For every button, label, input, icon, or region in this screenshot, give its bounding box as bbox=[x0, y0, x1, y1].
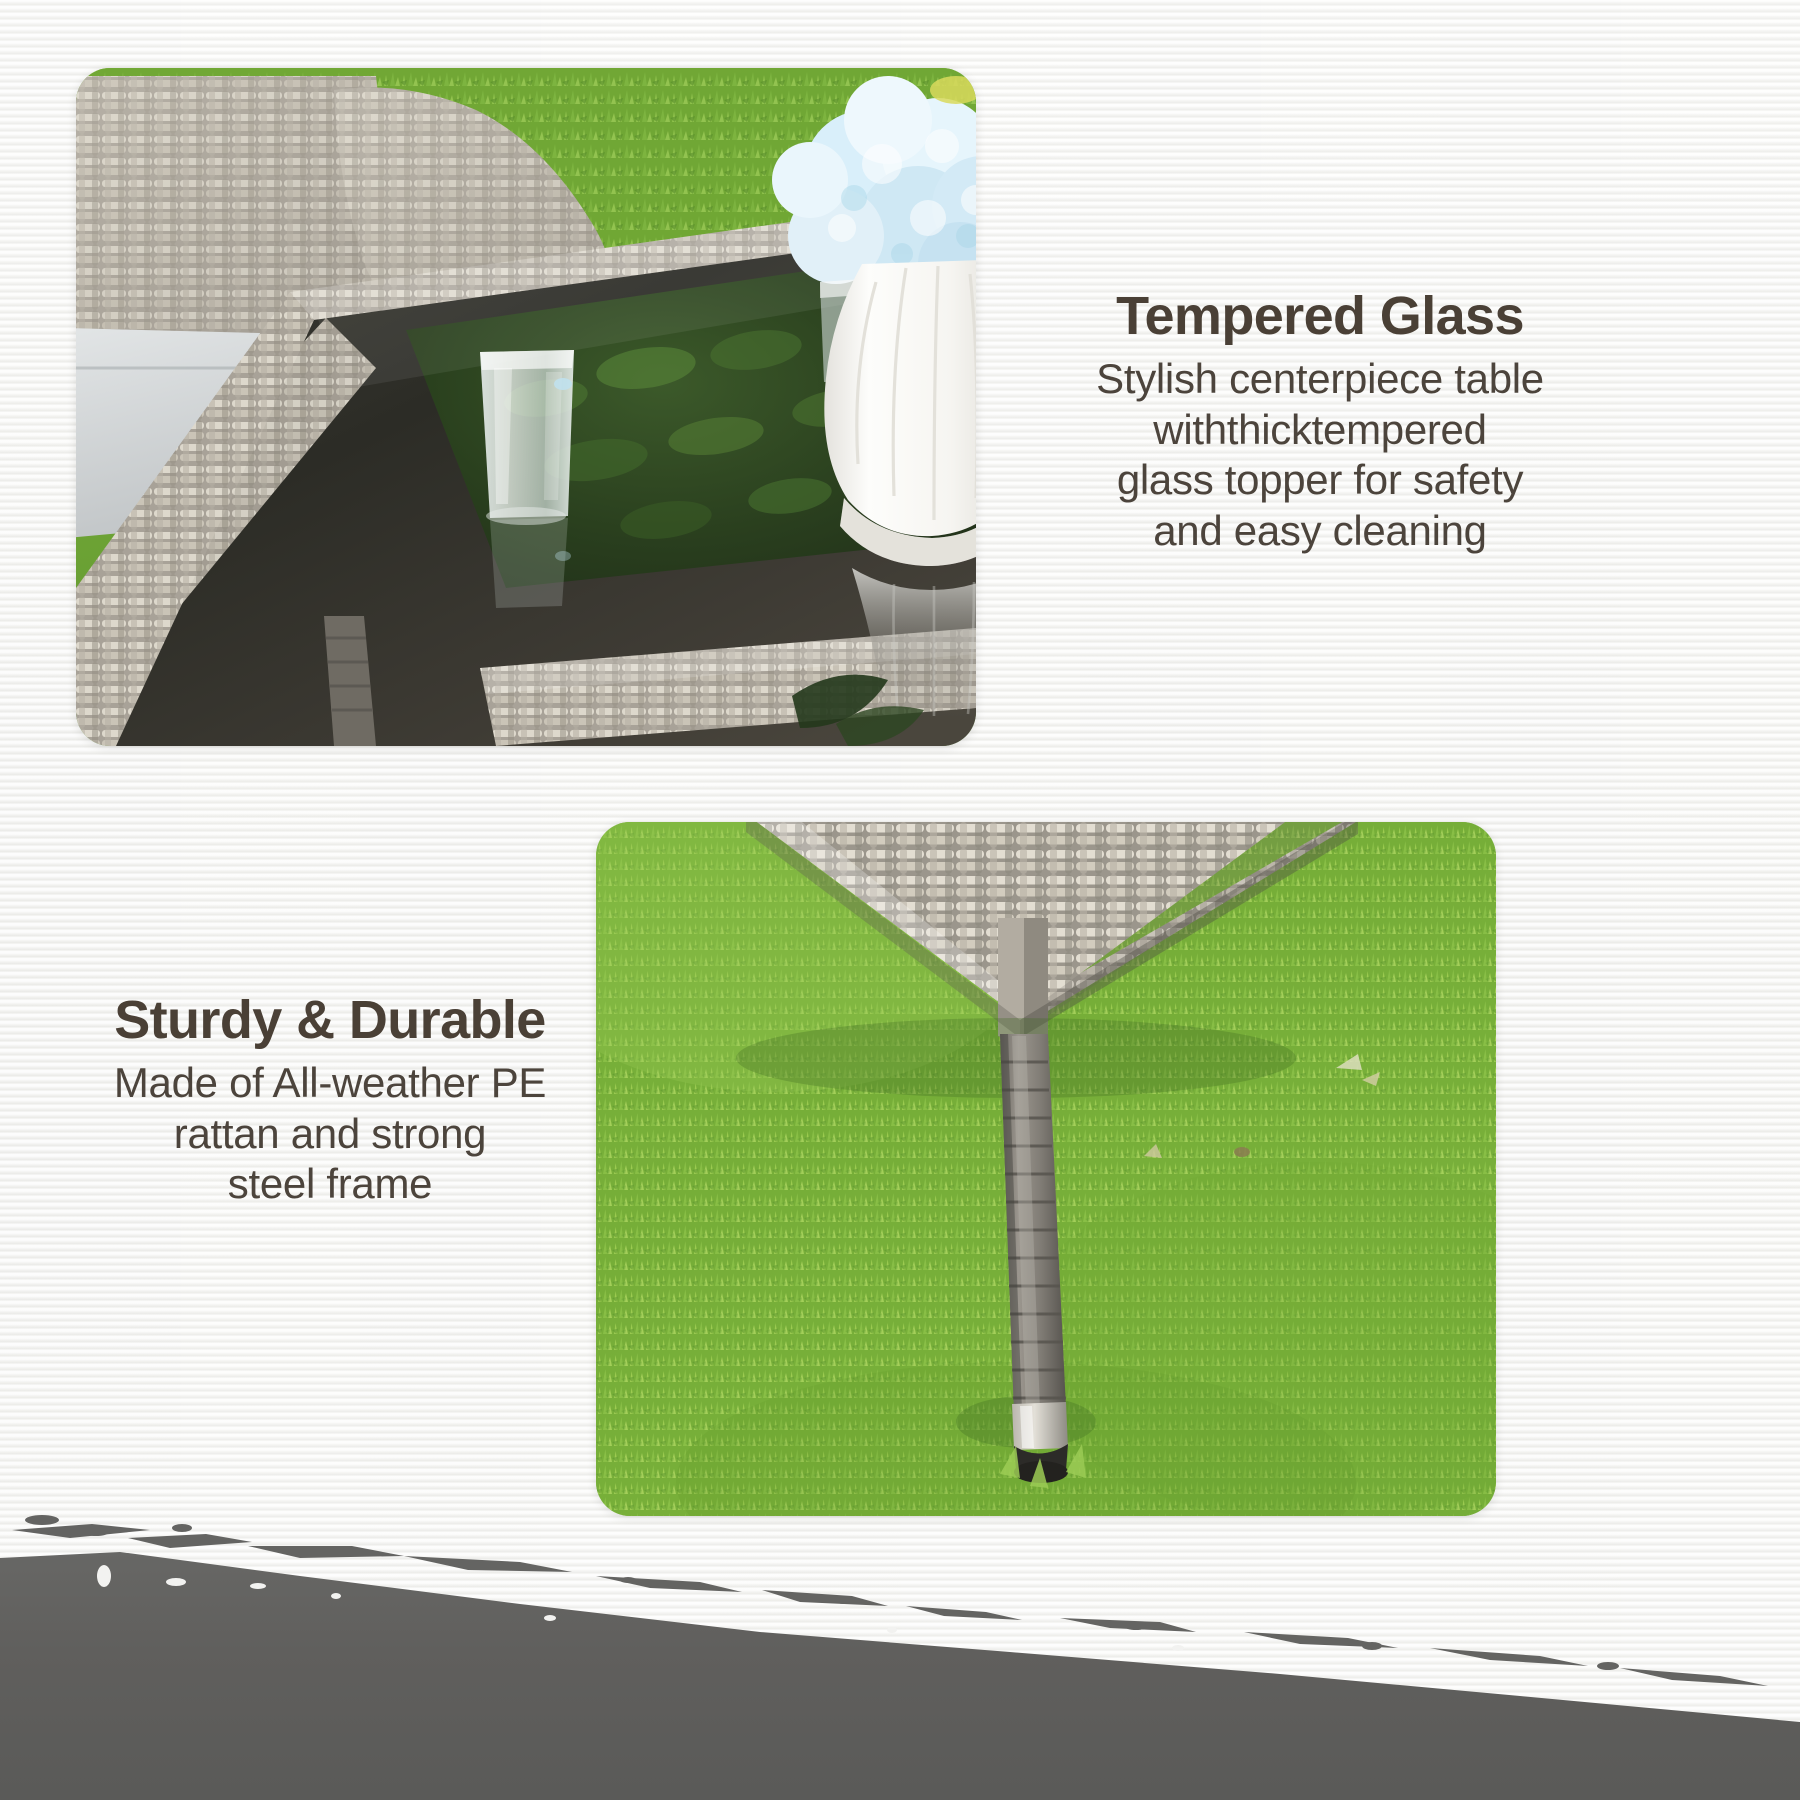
photo-sturdy-frame bbox=[596, 822, 1496, 1516]
feature-body-line: glass topper for safety bbox=[990, 455, 1650, 505]
feature-sturdy-durable: Sturdy & Durable Made of All-weather PE … bbox=[40, 990, 620, 1210]
feature-body-line: steel frame bbox=[40, 1159, 620, 1209]
feature-body-line: Stylish centerpiece table bbox=[990, 354, 1650, 404]
feature-body-line: rattan and strong bbox=[40, 1109, 620, 1159]
feature-body-sturdy-durable: Made of All-weather PE rattan and strong… bbox=[40, 1058, 620, 1209]
feature-title-tempered-glass: Tempered Glass bbox=[990, 286, 1650, 346]
feature-body-line: Made of All-weather PE bbox=[40, 1058, 620, 1108]
feature-tempered-glass: Tempered Glass Stylish centerpiece table… bbox=[990, 286, 1650, 556]
feature-body-line: withthicktempered bbox=[990, 405, 1650, 455]
feature-title-sturdy-durable: Sturdy & Durable bbox=[40, 990, 620, 1050]
feature-body-tempered-glass: Stylish centerpiece table withthicktempe… bbox=[990, 354, 1650, 556]
feature-body-line: and easy cleaning bbox=[990, 506, 1650, 556]
photo-tempered-glass bbox=[76, 68, 976, 746]
